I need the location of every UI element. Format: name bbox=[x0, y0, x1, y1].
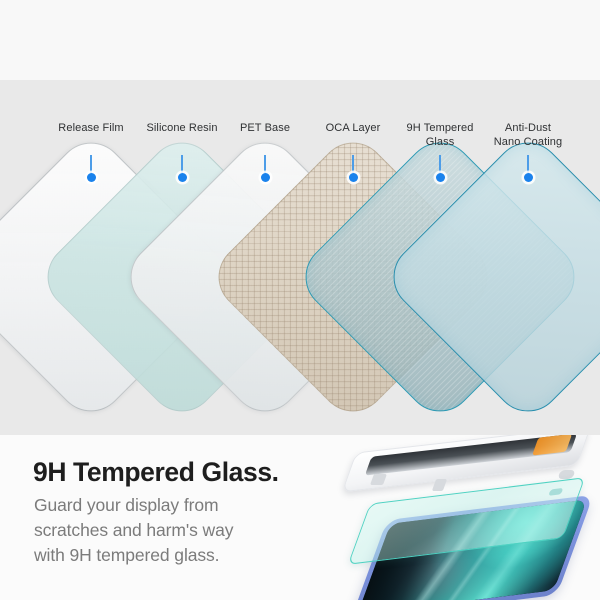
callout-label-oca-layer: OCA Layer bbox=[326, 122, 381, 136]
callout-dot-icon bbox=[436, 173, 445, 182]
callout-label-line: Nano Coating bbox=[494, 136, 562, 150]
body-copy-text: Guard your display from scratches and ha… bbox=[34, 493, 233, 568]
callout-label-line: Glass bbox=[407, 136, 474, 150]
callout-dot-icon bbox=[87, 173, 96, 182]
callout-label-nano-coating: Anti-Dust Nano Coating bbox=[494, 122, 562, 149]
body-copy-line: Guard your display from bbox=[34, 493, 233, 518]
callout-dot-icon bbox=[349, 173, 358, 182]
callout-dot-icon bbox=[524, 173, 533, 182]
callout-dot-icon bbox=[261, 173, 270, 182]
callout-dot-icon bbox=[178, 173, 187, 182]
glass-camera-notch bbox=[548, 488, 563, 496]
callout-label-line: Anti-Dust bbox=[494, 122, 562, 136]
callout-label-silicone-resin: Silicone Resin bbox=[146, 122, 217, 136]
body-copy-line: with 9H tempered glass. bbox=[34, 543, 233, 568]
callout-label-line: 9H Tempered bbox=[407, 122, 474, 136]
top-white-band bbox=[0, 0, 600, 80]
callout-label-release-film: Release Film bbox=[58, 122, 123, 136]
headline-text: 9H Tempered Glass. bbox=[33, 457, 279, 488]
callout-label-pet-base: PET Base bbox=[240, 122, 290, 136]
infographic-page: Release Film Silicone Resin PET Base OCA… bbox=[0, 0, 600, 600]
callout-label-tempered-glass: 9H Tempered Glass bbox=[407, 122, 474, 149]
product-photo bbox=[330, 435, 600, 600]
body-copy-line: scratches and harm's way bbox=[34, 518, 233, 543]
bottom-copy-section: 9H Tempered Glass. Guard your display fr… bbox=[0, 435, 600, 600]
